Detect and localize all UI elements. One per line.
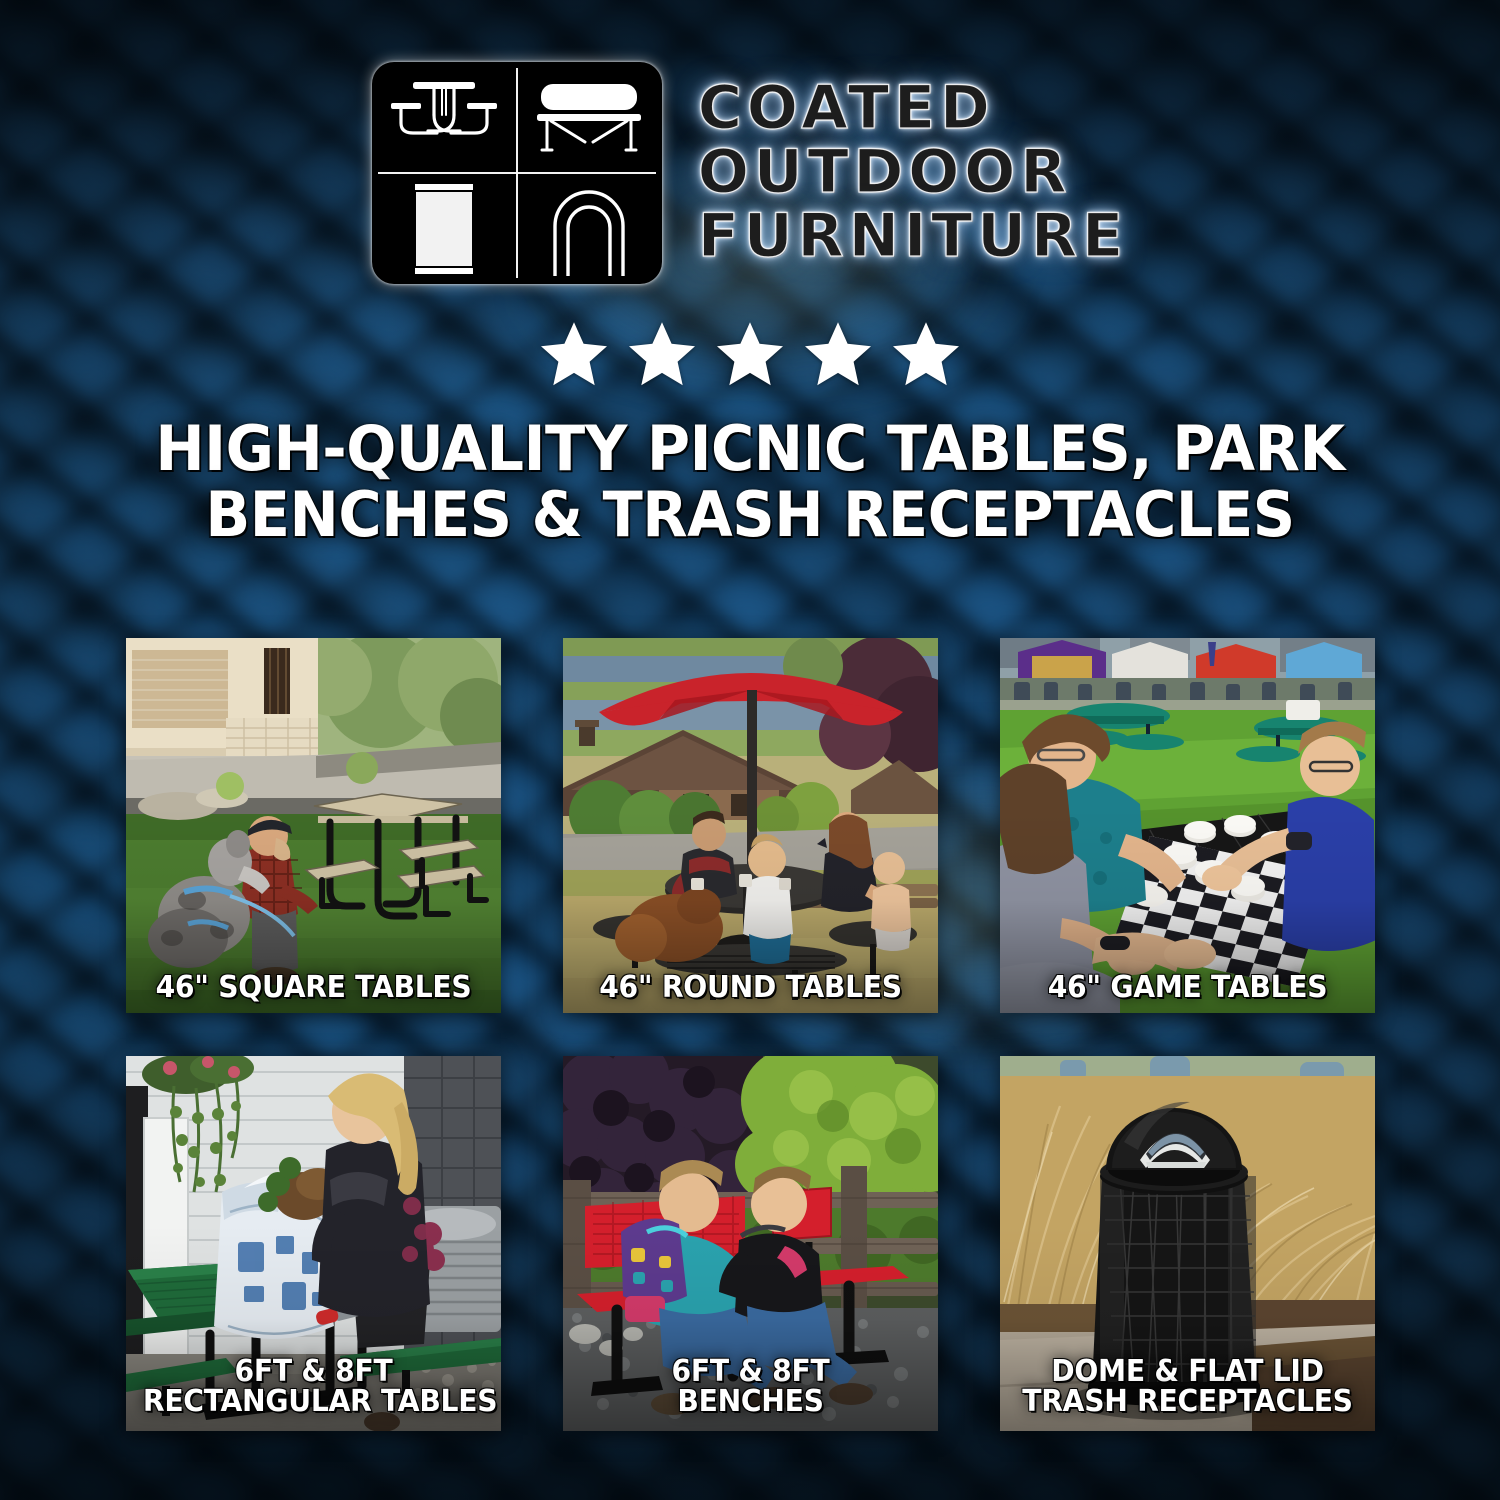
caption-line-1: 46" GAME TABLES — [1017, 973, 1358, 1003]
tile-shade — [1000, 638, 1375, 1013]
park-bench-icon — [517, 62, 662, 173]
headline-line-2: BENCHES & TRASH RECEPTACLES — [104, 482, 1396, 548]
coated-outdoor-furniture-logo — [372, 62, 662, 284]
star-icon — [713, 318, 787, 390]
tile-shade — [563, 638, 938, 1013]
tile-shade — [126, 638, 501, 1013]
trash-receptacle-icon — [372, 173, 517, 284]
product-caption: 46" SQUARE TABLES — [137, 973, 490, 1003]
product-caption: 6FT & 8FT RECTANGULAR TABLES — [137, 1357, 490, 1417]
caption-line-1: 6FT & 8FT — [580, 1357, 921, 1387]
product-tile-game-tables[interactable]: 46" GAME TABLES — [1000, 638, 1375, 1013]
product-category-grid: 46" SQUARE TABLES — [126, 638, 1375, 1431]
promo-banner: COATED OUTDOOR FURNITURE HIGH-QUALITY PI… — [0, 0, 1500, 1500]
arch-bike-rack-icon — [517, 173, 662, 284]
product-tile-rectangular-tables[interactable]: 6FT & 8FT RECTANGULAR TABLES — [126, 1056, 501, 1431]
product-caption: 6FT & 8FT BENCHES — [574, 1357, 927, 1417]
picnic-table-icon — [372, 62, 517, 173]
page-title: HIGH-QUALITY PICNIC TABLES, PARK BENCHES… — [38, 416, 1463, 549]
wordmark-line-1: COATED — [698, 78, 995, 140]
caption-line-1: 46" ROUND TABLES — [580, 973, 921, 1003]
product-tile-round-tables[interactable]: 46" ROUND TABLES — [563, 638, 938, 1013]
wordmark-line-2: OUTDOOR — [698, 142, 1072, 204]
caption-line-2: RECTANGULAR TABLES — [143, 1387, 484, 1417]
star-icon — [889, 318, 963, 390]
product-tile-trash-receptacles[interactable]: DOME & FLAT LID TRASH RECEPTACLES — [1000, 1056, 1375, 1431]
caption-line-1: 46" SQUARE TABLES — [143, 973, 484, 1003]
caption-line-1: 6FT & 8FT — [143, 1357, 484, 1387]
caption-line-2: TRASH RECEPTACLES — [1017, 1387, 1358, 1417]
product-tile-benches[interactable]: 6FT & 8FT BENCHES — [563, 1056, 938, 1431]
product-caption: 46" ROUND TABLES — [574, 973, 927, 1003]
brand-header: COATED OUTDOOR FURNITURE — [0, 0, 1500, 284]
caption-line-1: DOME & FLAT LID — [1017, 1357, 1358, 1387]
star-rating — [0, 318, 1500, 390]
star-icon — [625, 318, 699, 390]
brand-wordmark: COATED OUTDOOR FURNITURE — [698, 78, 1128, 267]
caption-line-2: BENCHES — [580, 1387, 921, 1417]
product-caption: DOME & FLAT LID TRASH RECEPTACLES — [1011, 1357, 1364, 1417]
product-tile-square-tables[interactable]: 46" SQUARE TABLES — [126, 638, 501, 1013]
wordmark-line-3: FURNITURE — [698, 206, 1128, 268]
product-caption: 46" GAME TABLES — [1011, 973, 1364, 1003]
star-icon — [801, 318, 875, 390]
headline-line-1: HIGH-QUALITY PICNIC TABLES, PARK — [104, 416, 1396, 482]
star-icon — [537, 318, 611, 390]
